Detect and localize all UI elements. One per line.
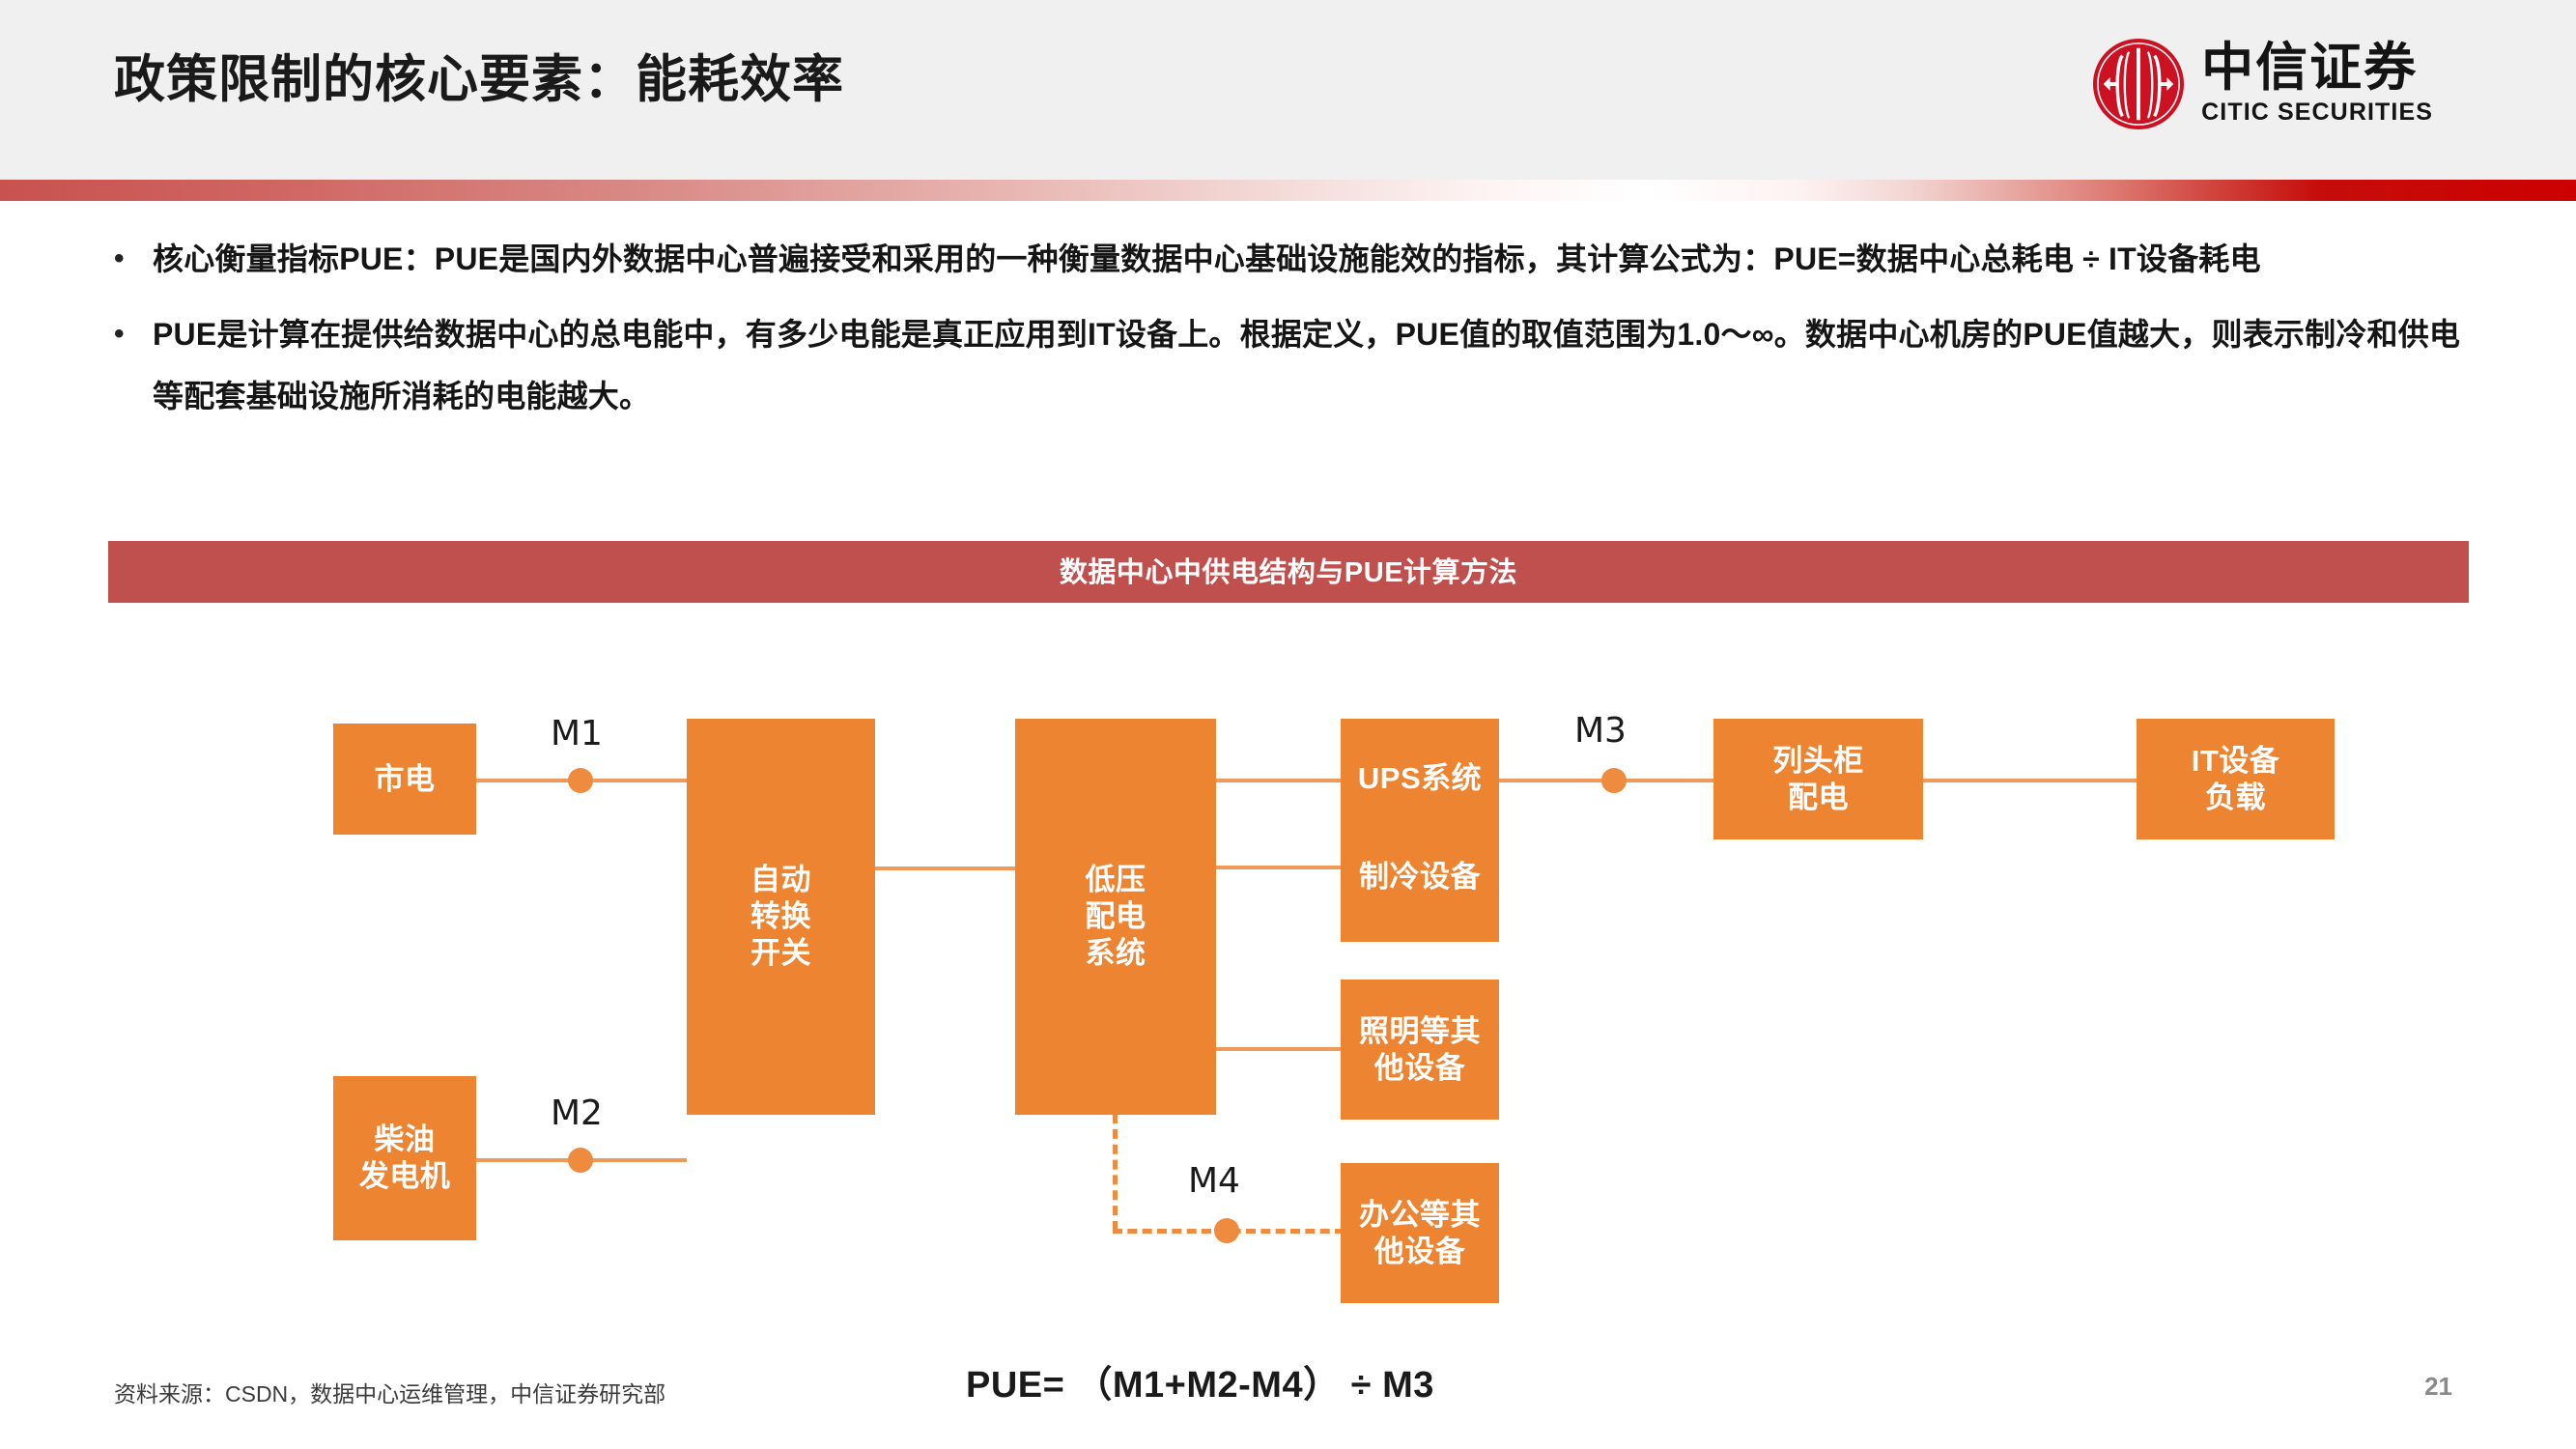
node-mains[interactable]: 市电: [333, 724, 476, 835]
edge-pdu-to-itload: [1923, 779, 2137, 782]
edge-ats-to-lv: [874, 867, 1015, 870]
node-diesel-generator[interactable]: 柴油 发电机: [333, 1076, 476, 1240]
brand-logo-text: 中信证券 CITIC SECURITIES: [2201, 42, 2433, 127]
brand-name-en: CITIC SECURITIES: [2201, 99, 2433, 127]
node-cooling[interactable]: 制冷设备: [1341, 811, 1499, 942]
source-note: 资料来源：CSDN，数据中心运维管理，中信证券研究部: [114, 1376, 665, 1408]
chart-title-bar: 数据中心中供电结构与PUE计算方法: [108, 541, 2469, 599]
meter-dot-m2-icon: [568, 1148, 593, 1173]
meter-dot-m3-icon: [1601, 768, 1627, 793]
bullet-text: 核心衡量指标PUE：PUE是国内外数据中心普遍接受和采用的一种衡量数据中心基础设…: [153, 228, 2471, 290]
brand-logo: 中信证券 CITIC SECURITIES: [2091, 37, 2433, 131]
bullet-item: • 核心衡量指标PUE：PUE是国内外数据中心普遍接受和采用的一种衡量数据中心基…: [114, 228, 2471, 290]
edge-lv-to-ups: [1215, 779, 1341, 782]
page-number: 21: [2424, 1372, 2452, 1402]
bullet-text: PUE是计算在提供给数据中心的总电能中，有多少电能是真正应用到IT设备上。根据定…: [153, 303, 2471, 427]
meter-label-m2: M2: [551, 1094, 603, 1133]
meter-label-m4: M4: [1188, 1161, 1240, 1201]
chart-title: 数据中心中供电结构与PUE计算方法: [1060, 550, 1517, 590]
bullet-list: • 核心衡量指标PUE：PUE是国内外数据中心普遍接受和采用的一种衡量数据中心基…: [114, 228, 2471, 440]
node-ats[interactable]: 自动 转换 开关: [687, 719, 875, 1115]
header-accent-bar: [0, 180, 2576, 201]
node-lighting[interactable]: 照明等其 他设备: [1341, 980, 1499, 1120]
bullet-marker: •: [114, 228, 153, 290]
meter-dot-m4-icon: [1214, 1218, 1239, 1243]
node-office[interactable]: 办公等其 他设备: [1341, 1163, 1499, 1303]
pue-formula: PUE= （M1+M2-M4） ÷ M3: [966, 1354, 1434, 1407]
node-lv-distribution[interactable]: 低压 配电 系统: [1015, 719, 1216, 1115]
edge-lv-to-lighting: [1215, 1047, 1341, 1051]
bullet-item: • PUE是计算在提供给数据中心的总电能中，有多少电能是真正应用到IT设备上。根…: [114, 303, 2471, 427]
power-structure-diagram: 市电 柴油 发电机 自动 转换 开关 低压 配电 系统 UPS系统 制冷设备 照…: [0, 603, 2576, 1318]
meter-label-m3: M3: [1574, 711, 1627, 751]
slide-root: 政策限制的核心要素：能耗效率 中信证券 CITIC SECURITIES • 核…: [0, 0, 2576, 1449]
edge-lv-to-office-vertical: [1113, 1114, 1118, 1231]
meter-label-m1: M1: [551, 714, 603, 753]
node-pdu[interactable]: 列头柜 配电: [1713, 719, 1923, 839]
meter-dot-m1-icon: [568, 768, 593, 793]
bullet-marker: •: [114, 303, 153, 365]
brand-name-cn: 中信证券: [2201, 42, 2418, 94]
edge-lv-to-cooling: [1215, 866, 1341, 869]
citic-circle-logo-icon: [2091, 37, 2186, 131]
node-it-load[interactable]: IT设备 负载: [2137, 719, 2335, 839]
page-title: 政策限制的核心要素：能耗效率: [114, 39, 844, 112]
